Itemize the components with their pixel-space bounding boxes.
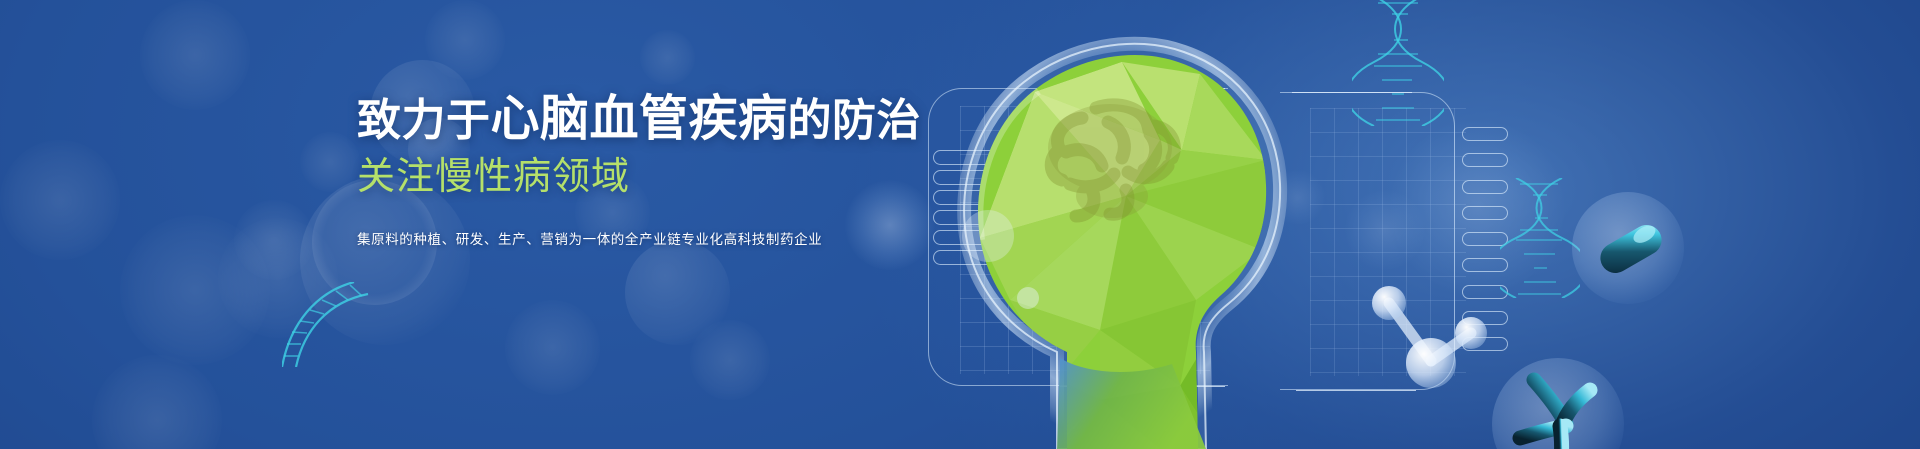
bokeh-circle	[300, 132, 360, 192]
hero-text-block: 致力于心脑血管疾病的防治 关注慢性病领域 集原料的种植、研发、生产、营销为一体的…	[357, 92, 787, 248]
bokeh-circle	[92, 355, 222, 449]
bokeh-circle	[625, 240, 730, 345]
face-bubble	[962, 210, 1014, 262]
bokeh-circle	[140, 0, 250, 110]
chromosome	[1504, 372, 1616, 449]
bokeh-circle	[505, 300, 600, 395]
bokeh-circle	[0, 140, 120, 260]
bacterium-capsule	[1594, 222, 1668, 276]
headline-accent: 心脑血管疾病	[491, 92, 788, 146]
bokeh-circle	[120, 215, 270, 365]
hud-bar	[1462, 153, 1508, 167]
low-poly-human-head	[860, 0, 1420, 449]
hud-bar	[1462, 127, 1508, 141]
dna-helix-left	[282, 282, 372, 367]
bokeh-circle	[640, 30, 695, 85]
lip-bubble	[1017, 287, 1039, 309]
dna-helix-right	[1500, 178, 1580, 298]
dna-helix-top	[1352, 0, 1444, 126]
hero-banner: 致力于心脑血管疾病的防治 关注慢性病领域 集原料的种植、研发、生产、营销为一体的…	[0, 0, 1920, 449]
bokeh-circle	[690, 320, 770, 400]
bokeh-circle	[425, 0, 505, 80]
hero-tagline: 集原料的种植、研发、生产、营销为一体的全产业链专业化高科技制药企业	[357, 228, 787, 248]
headline-suffix: 的防治	[788, 96, 922, 145]
hero-headline: 致力于心脑血管疾病的防治	[357, 92, 787, 147]
headline-prefix: 致力于	[357, 96, 491, 145]
bokeh-circle	[234, 200, 314, 280]
hero-subhead: 关注慢性病领域	[357, 156, 787, 200]
